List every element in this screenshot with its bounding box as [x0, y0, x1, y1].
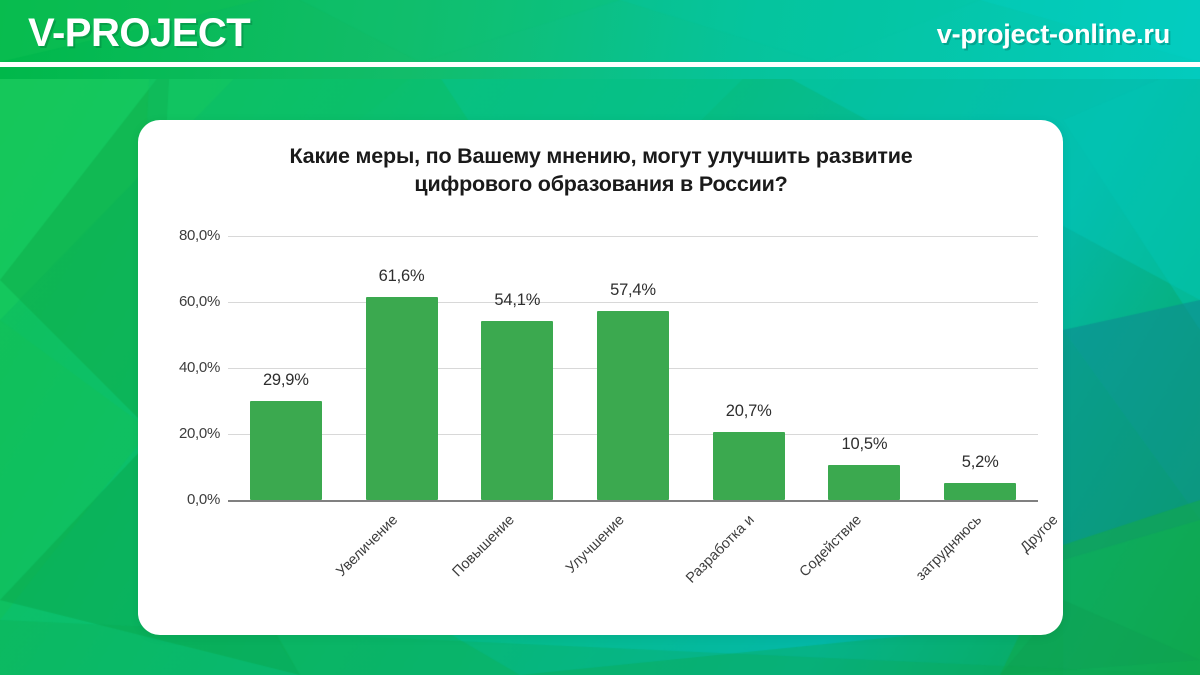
gridline-600: [228, 302, 1038, 303]
bar-3[interactable]: [481, 321, 553, 500]
gridline-800: [228, 236, 1038, 237]
bar-5[interactable]: [713, 432, 785, 500]
x-axis-category-label: Содействие: [796, 512, 864, 580]
bar-7[interactable]: [944, 483, 1016, 500]
gridline-00: [228, 500, 1038, 502]
x-axis-category-label: затрудняюсь: [914, 512, 986, 584]
chart-card: Какие меры, по Вашему мнению, могут улуч…: [138, 120, 1063, 635]
site-url-label: v-project-online.ru: [937, 19, 1170, 50]
bar-chart-plot: 0,0%20,0%40,0%60,0%80,0%29,9%Увеличение6…: [138, 120, 1063, 635]
x-axis-category-label: Улучшение: [563, 512, 628, 577]
bar-value-label: 54,1%: [457, 291, 577, 310]
bar-6[interactable]: [828, 465, 900, 500]
x-axis-category-label: Увеличение: [333, 512, 401, 580]
bar-4[interactable]: [597, 311, 669, 500]
x-axis-category-label: Разработка и: [683, 512, 758, 587]
bar-value-label: 57,4%: [573, 281, 693, 300]
y-axis-tick-label: 40,0%: [138, 359, 220, 376]
y-axis-tick-label: 20,0%: [138, 425, 220, 442]
y-axis-tick-label: 60,0%: [138, 293, 220, 310]
bar-value-label: 29,9%: [226, 371, 346, 390]
bar-value-label: 5,2%: [920, 453, 1040, 472]
bar-value-label: 10,5%: [804, 435, 924, 454]
x-axis-category-label: Повышение: [449, 512, 517, 580]
y-axis-tick-label: 0,0%: [138, 491, 220, 508]
x-axis-category-label: Другое: [1018, 512, 1062, 556]
header-under-band: [0, 67, 1200, 79]
bar-value-label: 61,6%: [342, 267, 462, 286]
bar-value-label: 20,7%: [689, 402, 809, 421]
bar-2[interactable]: [366, 297, 438, 500]
bar-1[interactable]: [250, 401, 322, 500]
brand-logo: V-PROJECT: [28, 11, 250, 56]
y-axis-tick-label: 80,0%: [138, 227, 220, 244]
